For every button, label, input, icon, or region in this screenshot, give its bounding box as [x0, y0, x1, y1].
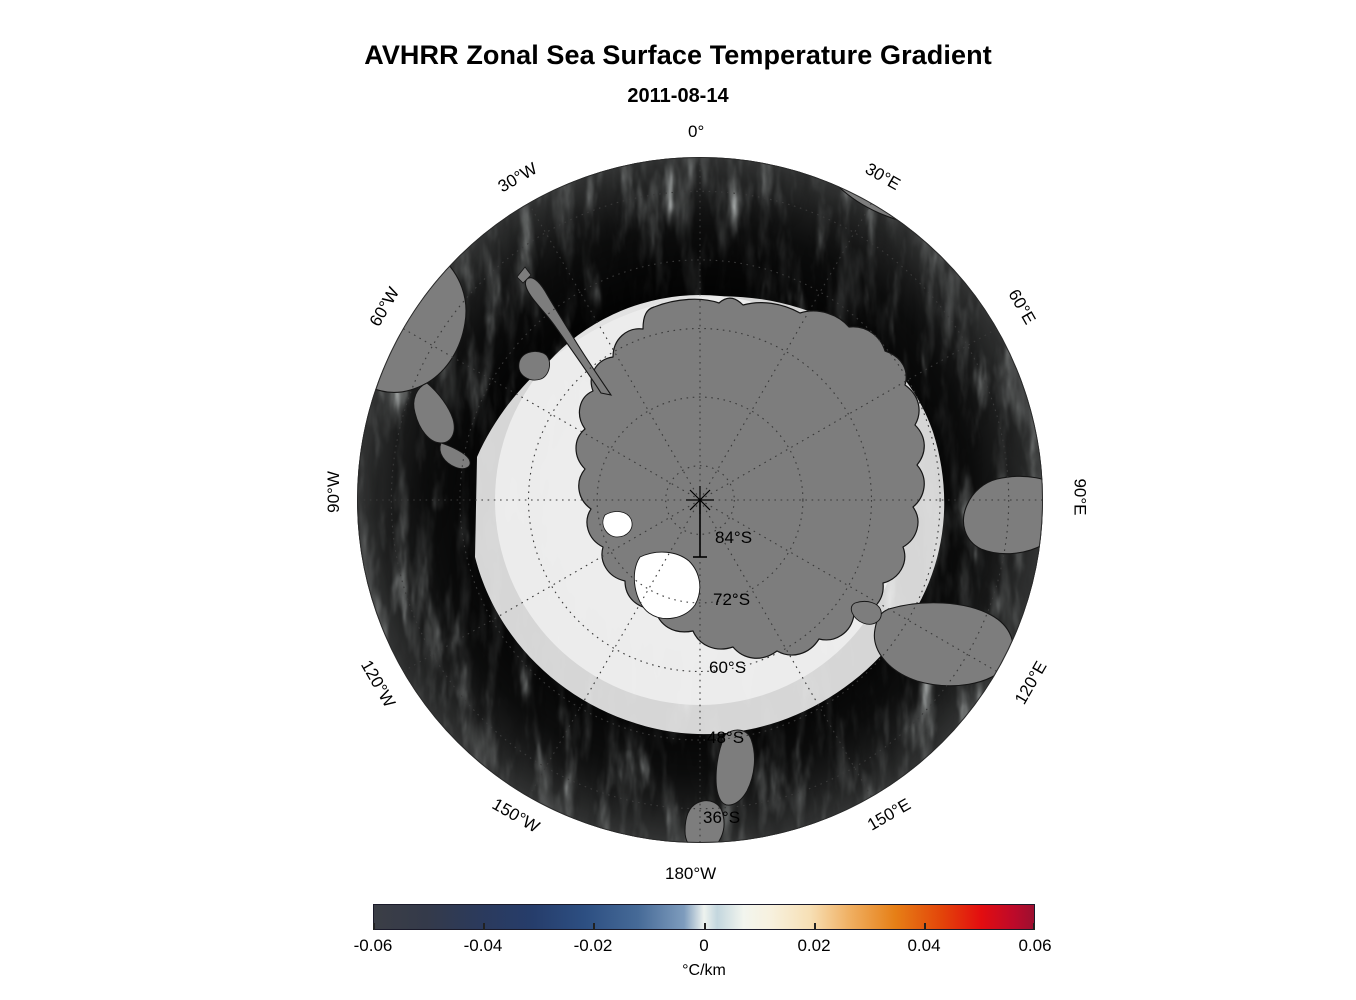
figure-canvas: AVHRR Zonal Sea Surface Temperature Grad… [0, 0, 1356, 1000]
map-raster [357, 157, 1043, 843]
colorbar[interactable]: -0.06 -0.04 -0.02 0 0.02 0.04 0.06 °C/km [373, 904, 1035, 930]
map-clip-region [357, 157, 1043, 843]
colorbar-label-5: 0.04 [907, 936, 940, 956]
colorbar-units-label: °C/km [373, 962, 1035, 980]
figure-title: AVHRR Zonal Sea Surface Temperature Grad… [0, 40, 1356, 71]
colorbar-label-4: 0.02 [797, 936, 830, 956]
lon-label-180w: 180°W [665, 864, 716, 884]
colorbar-label-0: -0.06 [354, 936, 393, 956]
colorbar-tick [704, 923, 706, 930]
figure-subtitle: 2011-08-14 [0, 85, 1356, 108]
colorbar-label-1: -0.04 [464, 936, 503, 956]
lon-label-90w: 90°W [324, 471, 344, 513]
colorbar-tick [814, 923, 816, 930]
colorbar-label-2: -0.02 [574, 936, 613, 956]
lon-label-0: 0° [688, 122, 704, 142]
lat-label-48s: 48°S [707, 728, 744, 748]
lat-label-36s: 36°S [703, 808, 740, 828]
colorbar-label-3: 0 [699, 936, 708, 956]
colorbar-tick [924, 923, 926, 930]
lat-label-60s: 60°S [709, 658, 746, 678]
colorbar-label-6: 0.06 [1018, 936, 1051, 956]
colorbar-tick [1033, 923, 1035, 930]
lat-label-72s: 72°S [713, 590, 750, 610]
colorbar-tick [373, 923, 375, 930]
lon-label-90e: 90°E [1070, 478, 1090, 515]
polar-map[interactable] [357, 157, 1043, 843]
colorbar-tick [483, 923, 485, 930]
colorbar-tick [593, 923, 595, 930]
lat-label-84s: 84°S [715, 528, 752, 548]
